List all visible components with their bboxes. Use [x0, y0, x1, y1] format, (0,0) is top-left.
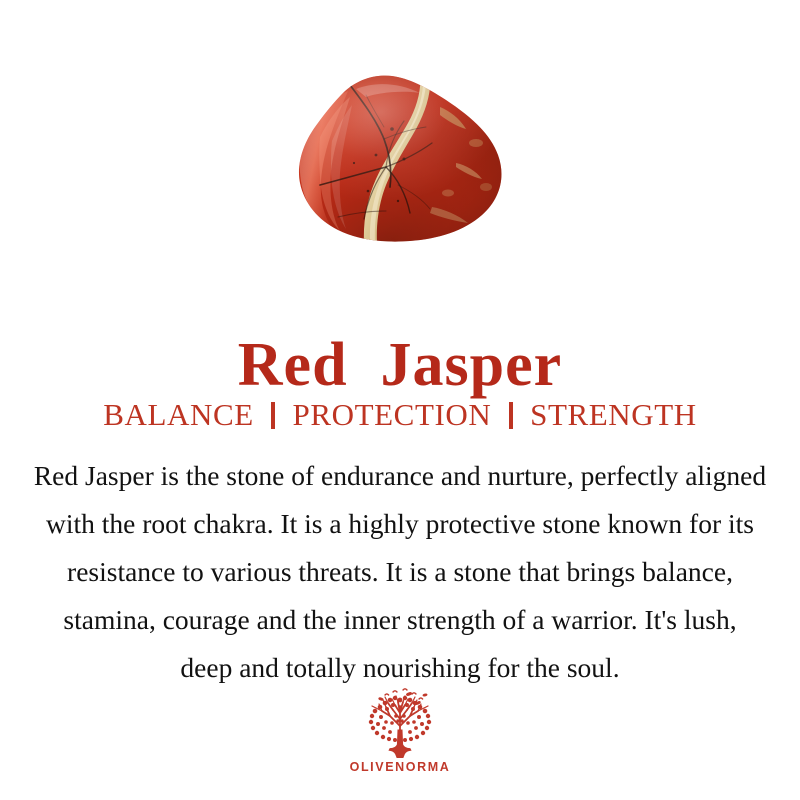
keyword-strength: STRENGTH [530, 397, 697, 432]
description-line: with the root chakra. It is a highly pro… [8, 500, 792, 548]
brand-wordmark: OLIVENORMA [350, 760, 451, 774]
red-jasper-stone-illustration [280, 67, 520, 247]
keyword-separator-2 [509, 402, 513, 429]
red-jasper-info-card: Red Jasper BALANCE PROTECTION STRENGTH R… [0, 0, 800, 800]
description-line: stamina, courage and the inner strength … [8, 596, 792, 644]
keyword-separator-1 [271, 402, 275, 429]
tree-of-life-icon [357, 686, 443, 758]
keyword-balance: BALANCE [103, 397, 254, 432]
description-line: deep and totally nourishing for the soul… [8, 644, 792, 692]
hero-stone-image [0, 62, 800, 252]
page-title: Red Jasper [0, 330, 800, 400]
description-text: Red Jasper is the stone of endurance and… [8, 452, 792, 692]
keyword-protection: PROTECTION [293, 397, 492, 432]
description-line: resistance to various threats. It is a s… [8, 548, 792, 596]
description-line: Red Jasper is the stone of endurance and… [8, 452, 792, 500]
brand-logo: OLIVENORMA [0, 686, 800, 774]
keyword-line: BALANCE PROTECTION STRENGTH [0, 396, 800, 434]
